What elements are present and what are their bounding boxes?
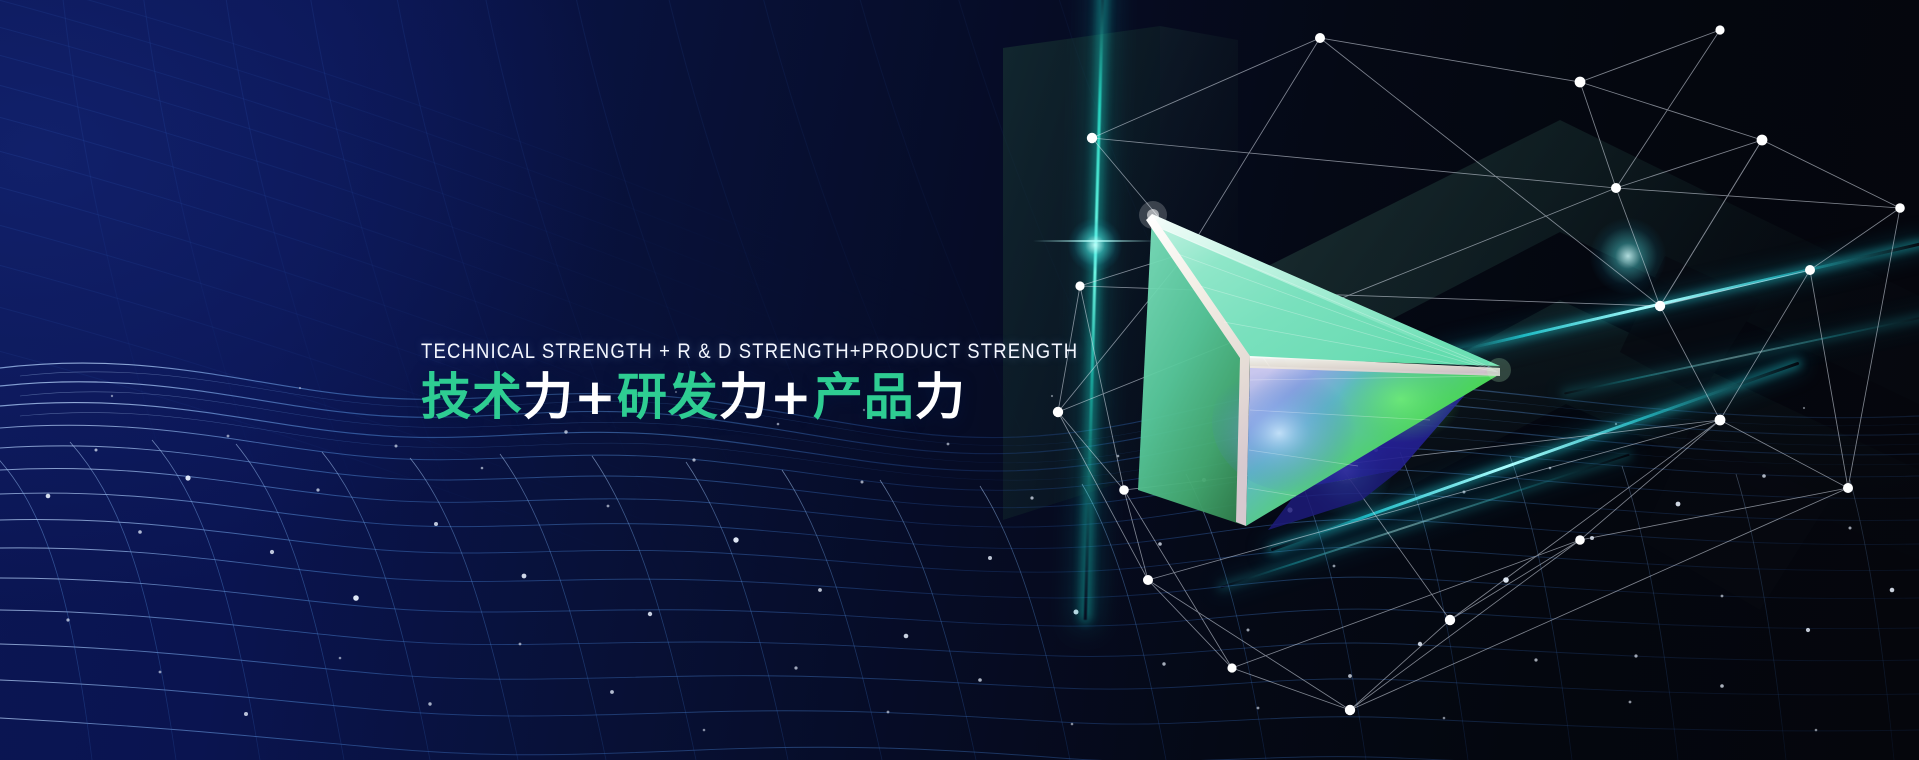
hero-banner: TECHNICAL STRENGTH + R & D STRENGTH+PROD… bbox=[0, 0, 1919, 760]
headline-segment-5: + bbox=[770, 368, 813, 426]
vertical-light-beam bbox=[1084, 0, 1105, 620]
beam-flare-streak bbox=[1033, 240, 1157, 242]
constellation-node-network bbox=[1020, 20, 1919, 720]
hero-text-block: TECHNICAL STRENGTH + R & D STRENGTH+PROD… bbox=[421, 341, 1041, 422]
lens-flare-secondary bbox=[1590, 218, 1666, 294]
diagonal-light-beam-lower bbox=[1220, 454, 1630, 589]
3d-play-arrow-prism bbox=[1100, 170, 1530, 590]
hero-subtitle-english: TECHNICAL STRENGTH + R & D STRENGTH+PROD… bbox=[421, 341, 954, 363]
diagonal-light-beam bbox=[1271, 362, 1800, 552]
headline-segment-1: 力 bbox=[523, 368, 574, 426]
headline-segment-7: 力 bbox=[915, 368, 966, 426]
beam-lens-flare bbox=[1068, 218, 1122, 272]
headline-segment-6: 产品 bbox=[813, 368, 915, 426]
headline-segment-3: 研发 bbox=[617, 368, 719, 426]
hero-headline-chinese: 技术力+研发力+产品力 bbox=[421, 372, 1041, 422]
diagonal-light-beam-far bbox=[1564, 311, 1919, 394]
diagonal-light-beam-upper bbox=[1436, 242, 1919, 357]
headline-segment-2: + bbox=[574, 368, 617, 426]
headline-segment-0: 技术 bbox=[421, 368, 523, 426]
headline-segment-4: 力 bbox=[719, 368, 770, 426]
lens-flare-primary bbox=[1300, 424, 1392, 516]
